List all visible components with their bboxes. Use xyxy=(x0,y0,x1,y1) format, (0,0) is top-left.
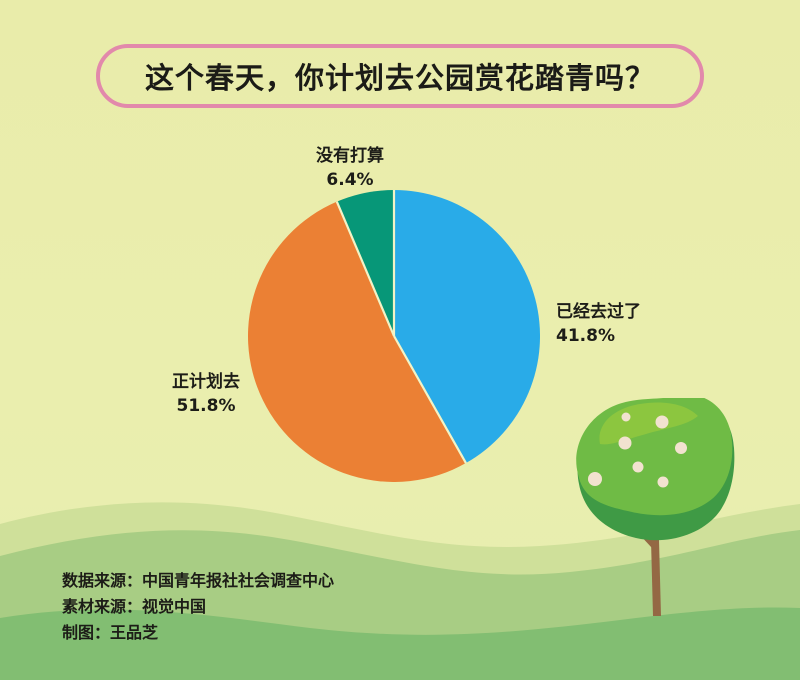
pie-label-already-went-value: 41.8% xyxy=(556,324,712,348)
pie-chart-svg xyxy=(248,190,540,482)
pie-label-planning-name: 正计划去 xyxy=(128,370,284,394)
footer-data-source: 数据来源：中国青年报社社会调查中心 xyxy=(62,568,334,594)
pie-label-already-went-name: 已经去过了 xyxy=(556,300,712,324)
pie-label-no-plan: 没有打算 6.4% xyxy=(268,144,432,192)
pie-label-already-went: 已经去过了 41.8% xyxy=(556,300,712,348)
tree-illustration xyxy=(566,398,742,642)
pie-label-planning: 正计划去 51.8% xyxy=(128,370,284,418)
footer-credits: 数据来源：中国青年报社社会调查中心 素材来源：视觉中国 制图：王品芝 xyxy=(62,568,334,646)
footer-designer: 制图：王品芝 xyxy=(62,620,334,646)
pie-label-no-plan-value: 6.4% xyxy=(268,168,432,192)
footer-material-source: 素材来源：视觉中国 xyxy=(62,594,334,620)
pie-chart xyxy=(248,190,540,482)
pie-label-planning-value: 51.8% xyxy=(128,394,284,418)
pie-label-no-plan-name: 没有打算 xyxy=(268,144,432,168)
infographic-canvas: 这个春天，你计划去公园赏花踏青吗？ 没有打算 6.4% 已经去过了 41.8% … xyxy=(0,0,800,680)
page-title: 这个春天，你计划去公园赏花踏青吗？ xyxy=(96,44,704,108)
tree-icon xyxy=(566,398,742,642)
